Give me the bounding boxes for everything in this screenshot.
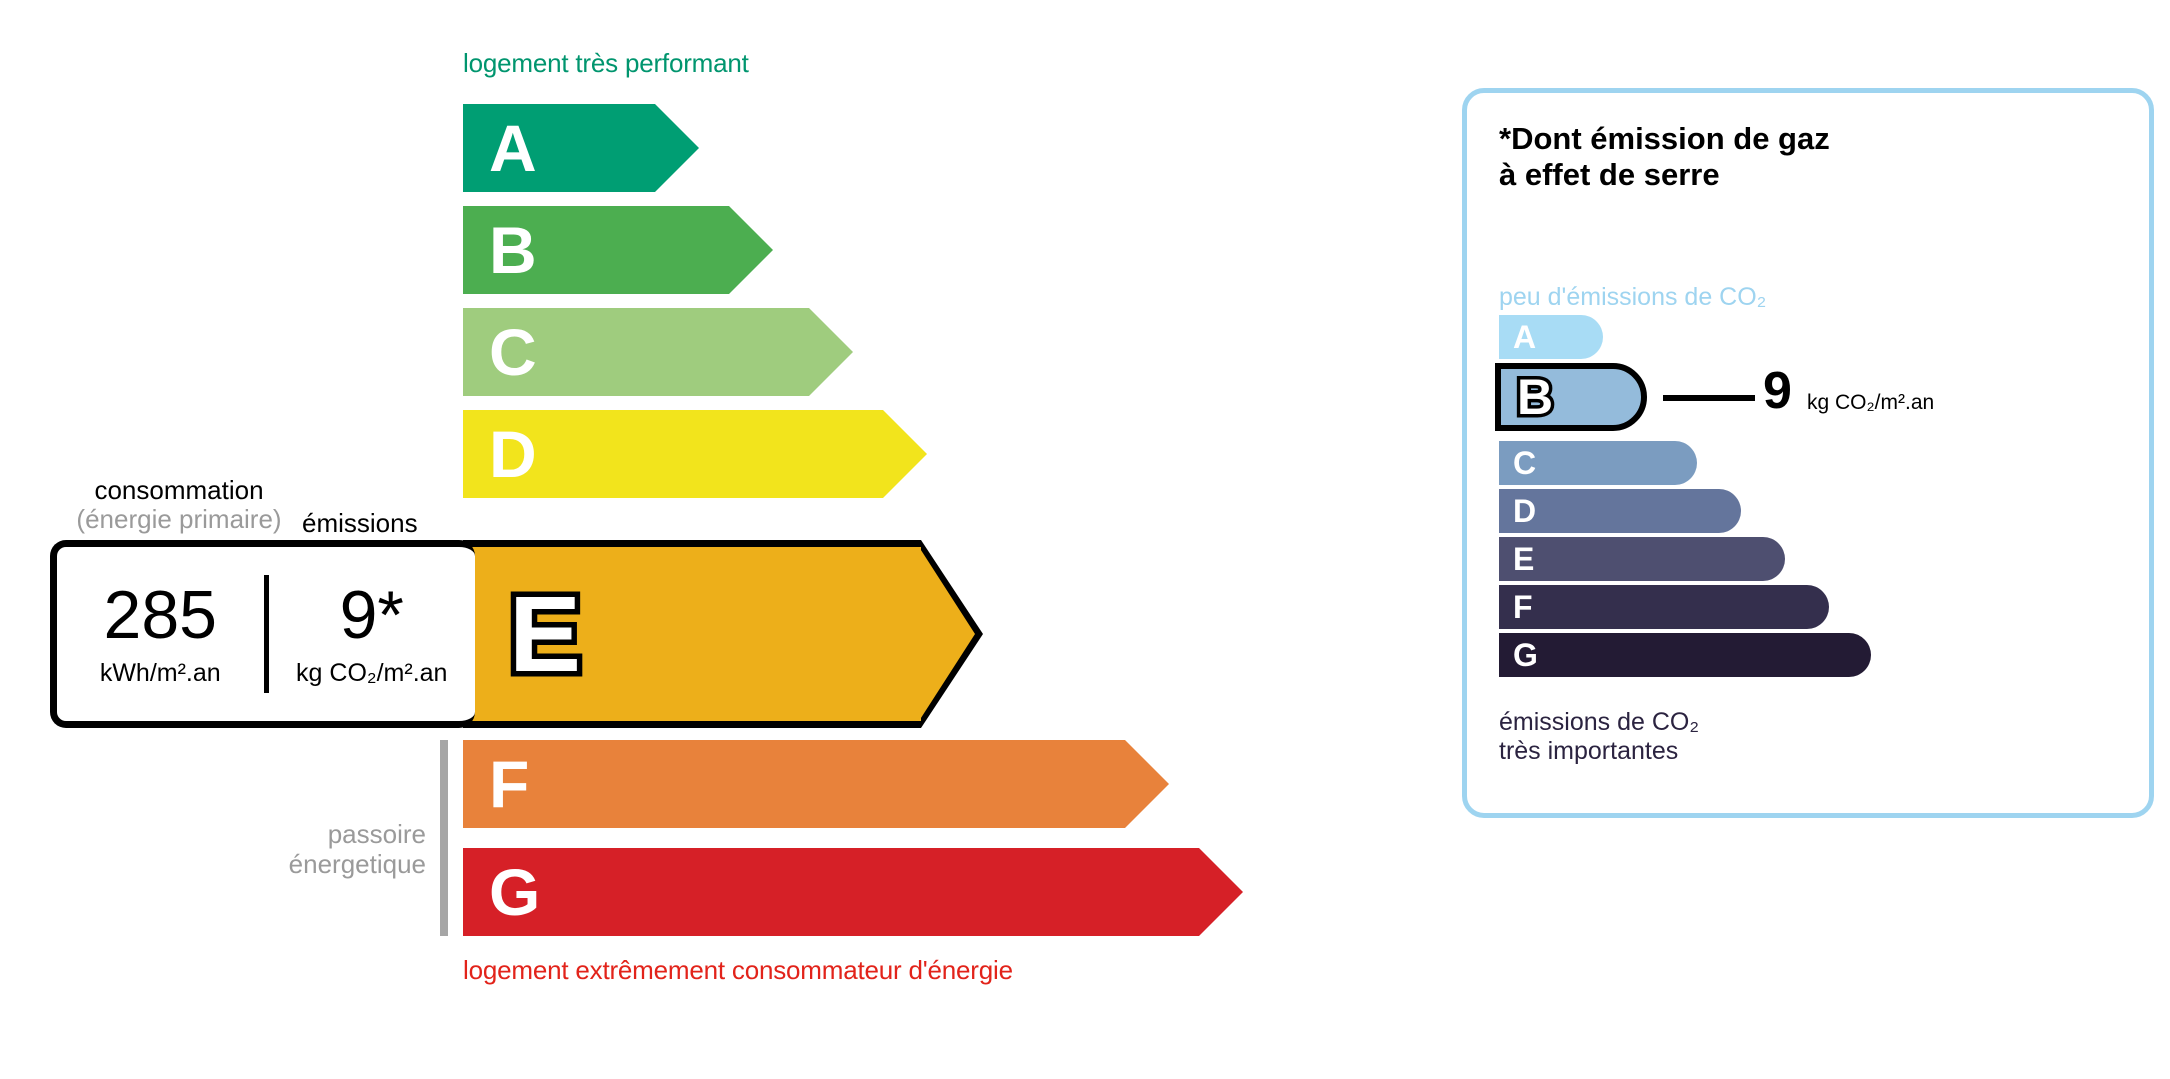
energy-row-a: A bbox=[463, 104, 699, 192]
energy-scale: logement très performant A B C bbox=[0, 0, 1400, 1079]
energy-row-b: B bbox=[463, 206, 773, 294]
co2-row-e: E bbox=[1499, 537, 1785, 581]
energy-letter-e: E bbox=[509, 580, 581, 688]
energy-arrow-c: C bbox=[463, 308, 853, 396]
energy-arrow-body-g bbox=[463, 848, 1199, 936]
energy-row-e-selected: E bbox=[463, 540, 983, 728]
energy-row-d: D bbox=[463, 410, 927, 498]
consumption-value: 285 bbox=[104, 581, 217, 649]
emissions-value: 9* bbox=[340, 581, 404, 649]
energy-arrow-e: E bbox=[463, 540, 983, 728]
co2-row-a: A bbox=[1499, 315, 1603, 359]
energy-letter-a: A bbox=[489, 115, 537, 181]
energy-arrow-tip-g bbox=[1199, 848, 1243, 936]
co2-value: 9 bbox=[1763, 365, 1792, 417]
co2-row-f: F bbox=[1499, 585, 1829, 629]
emissions-unit: kg CO₂/m².an bbox=[296, 659, 447, 688]
co2-letter-b: B bbox=[1517, 372, 1553, 422]
co2-row-d: D bbox=[1499, 489, 1741, 533]
co2-letter-g: G bbox=[1513, 639, 1538, 671]
energy-arrow-tip-fill-e bbox=[919, 547, 975, 721]
co2-top-label: peu d'émissions de CO₂ bbox=[1499, 283, 1766, 312]
co2-row-g: G bbox=[1499, 633, 1871, 677]
consumption-caption-sub: (énergie primaire) bbox=[64, 505, 294, 534]
energy-arrow-g: G bbox=[463, 848, 1243, 936]
co2-value-unit: kg CO₂/m².an bbox=[1807, 391, 1934, 415]
consumption-value-cell: 285 kWh/m².an bbox=[57, 581, 264, 688]
emissions-value-cell: 9* kg CO₂/m².an bbox=[269, 581, 476, 688]
co2-panel: *Dont émission de gaz à effet de serre p… bbox=[1462, 88, 2154, 818]
energy-arrow-b: B bbox=[463, 206, 773, 294]
energy-arrow-a: A bbox=[463, 104, 699, 192]
co2-letter-d: D bbox=[1513, 495, 1536, 527]
energy-letter-g: G bbox=[489, 859, 540, 925]
energy-letter-c: C bbox=[489, 319, 537, 385]
co2-letter-f: F bbox=[1513, 591, 1533, 623]
co2-letter-c: C bbox=[1513, 447, 1536, 479]
passoire-bracket bbox=[440, 740, 448, 936]
co2-bottom-label: émissions de CO₂ très importantes bbox=[1499, 708, 1699, 766]
energy-row-c: C bbox=[463, 308, 853, 396]
consumption-unit: kWh/m².an bbox=[100, 659, 221, 688]
energy-row-g: G bbox=[463, 848, 1243, 936]
value-box: 285 kWh/m².an 9* kg CO₂/m².an bbox=[50, 540, 475, 728]
dpe-diagram: logement très performant A B C bbox=[0, 0, 2170, 1079]
energy-arrow-tip-a bbox=[655, 104, 699, 192]
co2-letter-a: A bbox=[1513, 321, 1536, 353]
consumption-caption-main: consommation bbox=[64, 476, 294, 505]
energy-letter-d: D bbox=[489, 421, 537, 487]
energy-arrow-body-f bbox=[463, 740, 1125, 828]
co2-row-b-selected: B bbox=[1495, 363, 1647, 431]
scale-bottom-label: logement extrêmement consommateur d'éner… bbox=[463, 955, 1013, 986]
co2-row-c: C bbox=[1499, 441, 1697, 485]
co2-leader-line bbox=[1663, 395, 1755, 401]
energy-arrow-f: F bbox=[463, 740, 1169, 828]
energy-letter-b: B bbox=[489, 217, 537, 283]
consumption-caption: consommation (énergie primaire) bbox=[64, 476, 294, 534]
energy-letter-f: F bbox=[489, 751, 529, 817]
energy-arrow-tip-f bbox=[1125, 740, 1169, 828]
energy-arrow-tip-d bbox=[883, 410, 927, 498]
passoire-label: passoire énergetique bbox=[240, 820, 426, 880]
energy-arrow-tip-c bbox=[809, 308, 853, 396]
emissions-caption: émissions bbox=[302, 508, 418, 539]
co2-letter-e: E bbox=[1513, 543, 1534, 575]
scale-top-label: logement très performant bbox=[463, 48, 749, 79]
energy-arrow-tip-b bbox=[729, 206, 773, 294]
energy-row-f: F bbox=[463, 740, 1169, 828]
co2-panel-title: *Dont émission de gaz à effet de serre bbox=[1499, 121, 1830, 192]
energy-arrow-d: D bbox=[463, 410, 927, 498]
